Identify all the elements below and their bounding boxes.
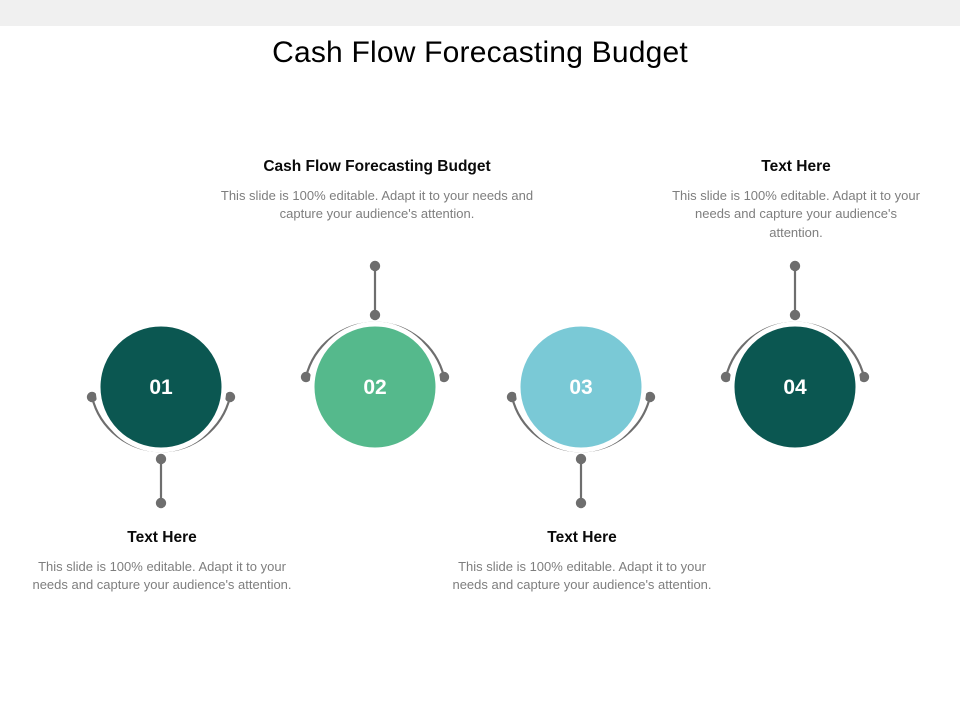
- text-block-node-03-heading: Text Here: [448, 529, 716, 548]
- node-01-connector-dot-end: [156, 498, 166, 508]
- text-block-node-02-heading: Cash Flow Forecasting Budget: [218, 158, 536, 177]
- node-02-group[interactable]: [301, 261, 449, 450]
- node-01-connector-dot-top: [156, 454, 166, 464]
- node-03-number: 03: [511, 377, 651, 398]
- node-04-connector-dot-end: [790, 261, 800, 271]
- node-03-connector-dot-top: [576, 454, 586, 464]
- text-block-node-01-heading: Text Here: [28, 529, 296, 548]
- text-block-node-02: Cash Flow Forecasting Budget This slide …: [218, 158, 536, 224]
- node-03-group[interactable]: [507, 324, 655, 508]
- text-block-node-04: Text Here This slide is 100% editable. A…: [672, 158, 920, 243]
- text-block-node-03-body: This slide is 100% editable. Adapt it to…: [448, 558, 716, 596]
- node-04-group[interactable]: [721, 261, 869, 450]
- text-block-node-03: Text Here This slide is 100% editable. A…: [448, 529, 716, 595]
- node-02-number: 02: [305, 377, 445, 398]
- text-block-node-04-heading: Text Here: [672, 158, 920, 177]
- text-block-node-01-body: This slide is 100% editable. Adapt it to…: [28, 558, 296, 596]
- node-02-connector-dot-bottom: [370, 310, 380, 320]
- node-03-connector-dot-end: [576, 498, 586, 508]
- node-04-connector-dot-bottom: [790, 310, 800, 320]
- text-block-node-02-body: This slide is 100% editable. Adapt it to…: [218, 187, 536, 225]
- node-01-group[interactable]: [87, 324, 235, 508]
- text-block-node-01: Text Here This slide is 100% editable. A…: [28, 529, 296, 595]
- node-01-number: 01: [91, 377, 231, 398]
- text-block-node-04-body: This slide is 100% editable. Adapt it to…: [672, 187, 920, 244]
- infographic-diagram: [0, 0, 960, 720]
- node-02-connector-dot-end: [370, 261, 380, 271]
- node-04-number: 04: [725, 377, 865, 398]
